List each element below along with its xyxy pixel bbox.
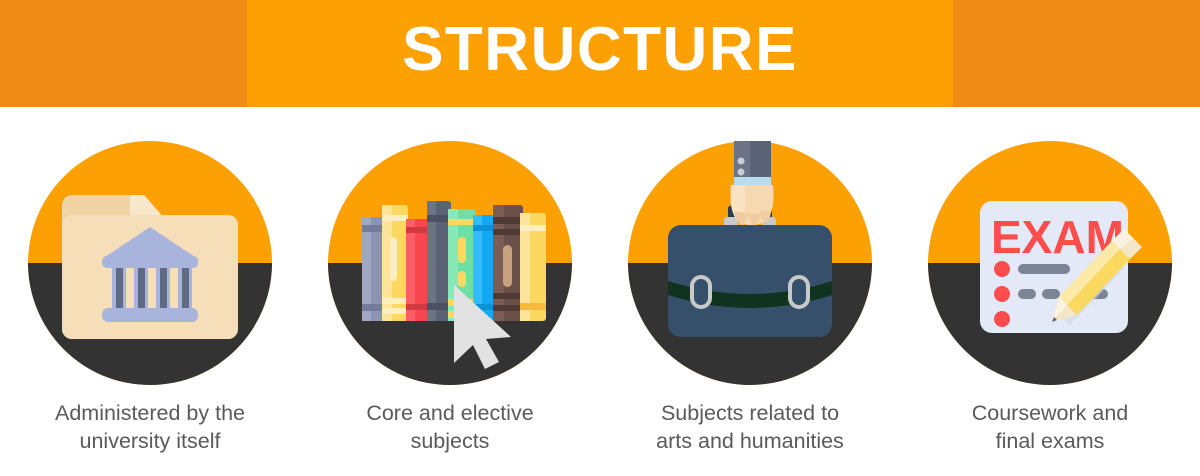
caption-line-1: Administered by the [55,401,245,425]
exam-paper-pencil-icon: EXAM [928,141,1172,385]
line-2a [1018,289,1036,299]
bullet-1 [994,261,1010,277]
bullet-2 [994,286,1010,302]
caption-line-2: arts and humanities [656,429,844,453]
icon-circle-1 [28,141,272,385]
caption-line-1: Core and elective [366,401,533,425]
hand-briefcase-icon [628,141,872,385]
book-3 [406,219,430,321]
folder-university-icon [28,141,272,385]
item-core-elective[interactable]: Core and elective subjects [300,107,600,476]
infographic-page: STRUCTURE [0,0,1200,476]
page-title: STRUCTURE [0,0,1200,107]
caption-line-2: final exams [996,429,1105,453]
books-cursor-icon [328,141,572,385]
hand [731,185,774,226]
icon-circle-4: EXAM [928,141,1172,385]
caption-line-2: subjects [411,429,490,453]
book-4 [427,201,451,321]
book-7 [493,205,523,321]
line-2b [1042,289,1060,299]
briefcase-body [668,225,832,337]
item-administered[interactable]: Administered by the university itself [0,107,300,476]
item-coursework-exams[interactable]: EXAM [900,107,1200,476]
item-caption-1: Administered by the university itself [0,399,300,455]
caption-line-1: Subjects related to [661,401,839,425]
icon-circle-2 [328,141,572,385]
item-caption-4: Coursework and final exams [900,399,1200,455]
suit-sleeve [734,141,771,186]
caption-line-2: university itself [80,429,221,453]
items-row: Administered by the university itself [0,107,1200,476]
book-2 [382,205,408,321]
item-caption-3: Subjects related to arts and humanities [600,399,900,455]
item-arts-humanities[interactable]: Subjects related to arts and humanities [600,107,900,476]
caption-line-1: Coursework and [972,401,1129,425]
line-1 [1018,264,1070,274]
book-1 [362,217,384,321]
item-caption-2: Core and elective subjects [300,399,600,455]
book-8 [520,213,546,321]
icon-circle-3 [628,141,872,385]
header-bar: STRUCTURE [0,0,1200,107]
bullet-3 [994,311,1010,327]
